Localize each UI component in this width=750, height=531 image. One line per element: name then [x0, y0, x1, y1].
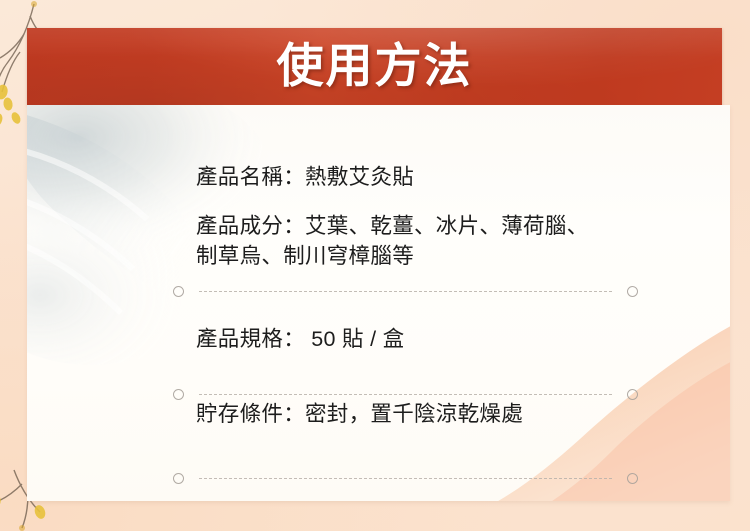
spec-text-product-specification: 產品規格： 50 貼 / 盒 — [196, 325, 404, 355]
page-title: 使用方法 — [277, 42, 473, 89]
spec-text-product-ingredients: 產品成分：艾葉、乾薑、冰片、薄荷腦、 制草烏、制川穹樟腦等 — [196, 212, 588, 271]
ring-bullet-icon — [173, 473, 184, 484]
ring-bullet-icon — [173, 286, 184, 297]
ring-bullet-icon — [173, 389, 184, 400]
divider-top — [27, 286, 730, 298]
dashed-line — [199, 478, 612, 479]
ring-bullet-icon — [627, 286, 638, 297]
divider-third — [27, 473, 730, 485]
ring-bullet-icon — [627, 389, 638, 400]
spec-text-product-name: 產品名稱：熱敷艾灸貼 — [196, 163, 414, 193]
dashed-line — [199, 291, 612, 292]
dashed-line — [199, 394, 612, 395]
spec-list: 產品名稱：熱敷艾灸貼 產品成分：艾葉、乾薑、冰片、薄荷腦、 制草烏、制川穹樟腦等… — [27, 105, 730, 501]
title-banner: 使用方法 — [27, 28, 722, 105]
ring-bullet-icon — [627, 473, 638, 484]
content-card: 產品名稱：熱敷艾灸貼 產品成分：艾葉、乾薑、冰片、薄荷腦、 制草烏、制川穹樟腦等… — [27, 105, 730, 501]
usage-instructions-poster: 使用方法 — [0, 0, 750, 531]
spec-text-storage-condition: 貯存條件：密封，置千陰涼乾燥處 — [196, 400, 523, 430]
